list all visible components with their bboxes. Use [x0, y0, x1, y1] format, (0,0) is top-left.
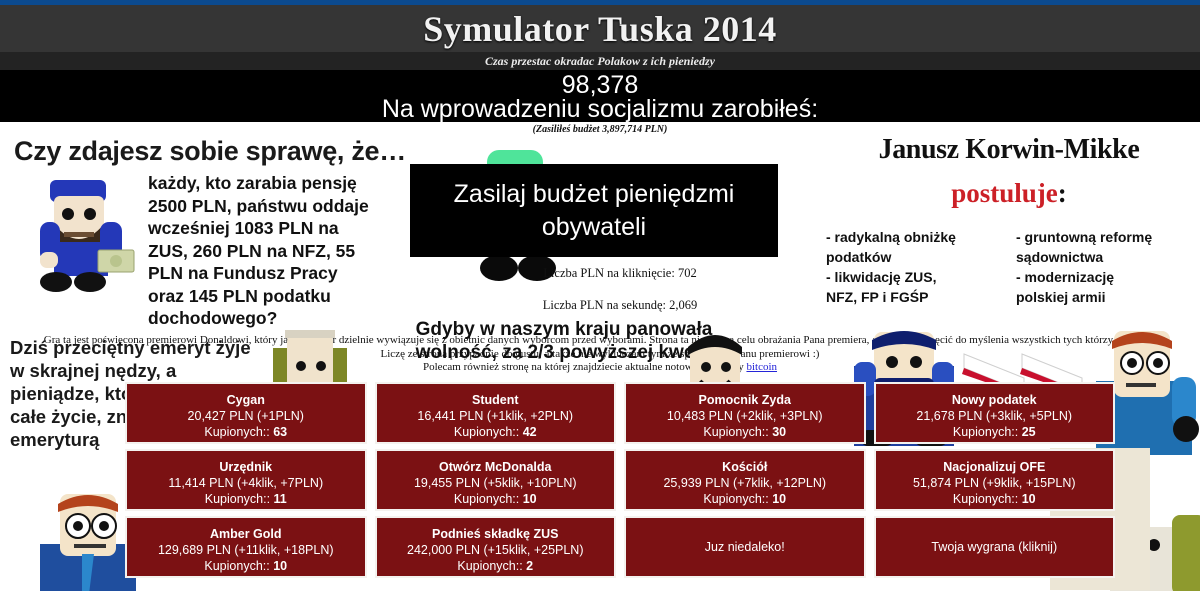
upgrade-owned-count: 63 [273, 425, 287, 439]
upgrade-owned-label: Kupionych:: [703, 425, 772, 439]
upgrade-tile-owned: Kupionych:: 11 [127, 491, 365, 507]
locked-tile-label: Juz niedaleko! [705, 539, 785, 555]
upgrade-tile-owned: Kupionych:: 63 [127, 424, 365, 440]
upgrade-tile-owned: Kupionych:: 2 [377, 558, 615, 574]
postulates-colon: : [1058, 178, 1067, 208]
upgrade-tile-cost: 129,689 PLN (+11klik, +18PLN) [127, 542, 365, 558]
upgrade-tile-owned: Kupionych:: 10 [127, 558, 365, 574]
page-root: Dziś przeciętny emeryt żyje w skrajnej n… [0, 0, 1200, 591]
upgrade-owned-label: Kupionych:: [703, 492, 772, 506]
upgrade-tile-cost: 51,874 PLN (+9klik, +15PLN) [876, 475, 1114, 491]
upgrade-tile-cost: 19,455 PLN (+5klik, +10PLN) [377, 475, 615, 491]
postulate-item: polskiej armii [1016, 288, 1198, 307]
upgrade-owned-count: 10 [273, 559, 287, 573]
locked-tile[interactable]: Twoja wygrana (kliknij) [874, 516, 1116, 578]
postulates-columns: - radykalną obniżkę podatków - likwidacj… [826, 228, 1198, 308]
postulates-column-right: - gruntowną reformę sądownictwa - modern… [1016, 228, 1198, 308]
upgrade-owned-count: 30 [772, 425, 786, 439]
upgrade-owned-label: Kupionych:: [205, 492, 274, 506]
upgrade-owned-label: Kupionych:: [204, 559, 273, 573]
locked-tile-label: Twoja wygrana (kliknij) [931, 539, 1057, 555]
upgrade-tile-cost: 20,427 PLN (+1PLN) [127, 408, 365, 424]
money-counter-label: Na wprowadzeniu socjalizmu zarobiłeś: [0, 96, 1200, 122]
left-panel-body: każdy, kto zarabia pensję 2500 PLN, pańs… [148, 172, 378, 330]
upgrade-owned-count: 2 [526, 559, 533, 573]
upgrade-tile-owned: Kupionych:: 10 [626, 491, 864, 507]
upgrade-tile-name: Nacjonalizuj OFE [876, 459, 1114, 475]
upgrade-tile-cost: 21,678 PLN (+3klik, +5PLN) [876, 408, 1114, 424]
upgrade-tile-name: Pomocnik Zyda [626, 392, 864, 408]
upgrade-owned-count: 10 [1022, 492, 1036, 506]
pln-per-click: Liczba PLN na kliknięcie: 702 [440, 266, 800, 281]
upgrade-tile[interactable]: Urzędnik11,414 PLN (+4klik, +7PLN)Kupion… [125, 449, 367, 511]
left-panel-heading: Czy zdajesz sobie sprawę, że… [14, 136, 406, 167]
upgrade-tile-name: Nowy podatek [876, 392, 1114, 408]
postulate-item: - modernizację [1016, 268, 1198, 287]
disclaimer-line-1: Gra ta jest poświęcona premierowi Donald… [0, 334, 1200, 346]
upgrade-owned-label: Kupionych:: [204, 425, 273, 439]
upgrade-tile-owned: Kupionych:: 42 [377, 424, 615, 440]
upgrade-tile-cost: 10,483 PLN (+2klik, +3PLN) [626, 408, 864, 424]
postulate-item: - likwidację ZUS, [826, 268, 1008, 287]
upgrade-owned-count: 25 [1022, 425, 1036, 439]
upgrade-tile[interactable]: Kościół25,939 PLN (+7klik, +12PLN)Kupion… [624, 449, 866, 511]
upgrade-tile[interactable]: Podnieś składkę ZUS242,000 PLN (+15klik,… [375, 516, 617, 578]
upgrade-tile-owned: Kupionych:: 25 [876, 424, 1114, 440]
upgrade-tile-cost: 25,939 PLN (+7klik, +12PLN) [626, 475, 864, 491]
upgrade-grid: Cygan20,427 PLN (+1PLN)Kupionych:: 63Stu… [125, 382, 1115, 578]
upgrade-owned-count: 11 [274, 492, 287, 506]
page-subtitle: Czas przestac okradac Polakow z ich pien… [0, 52, 1200, 70]
upgrade-tile-name: Urzędnik [127, 459, 365, 475]
upgrade-tile-name: Otwórz McDonalda [377, 459, 615, 475]
locked-tile[interactable]: Juz niedaleko! [624, 516, 866, 578]
upgrade-tile-name: Kościół [626, 459, 864, 475]
upgrade-owned-count: 10 [523, 492, 537, 506]
upgrade-tile[interactable]: Nacjonalizuj OFE51,874 PLN (+9klik, +15P… [874, 449, 1116, 511]
postulate-item: NFZ, FP i FGŚP [826, 288, 1008, 307]
upgrade-tile[interactable]: Amber Gold129,689 PLN (+11klik, +18PLN)K… [125, 516, 367, 578]
upgrade-tile[interactable]: Student16,441 PLN (+1klik, +2PLN)Kupiony… [375, 382, 617, 444]
upgrade-owned-count: 10 [772, 492, 786, 506]
upgrade-owned-label: Kupionych:: [454, 492, 523, 506]
upgrade-tile-cost: 16,441 PLN (+1klik, +2PLN) [377, 408, 615, 424]
postulate-item: podatków [826, 248, 1008, 267]
page-title: Symulator Tuska 2014 [0, 5, 1200, 52]
upgrade-owned-label: Kupionych:: [953, 492, 1022, 506]
upgrade-owned-label: Kupionych:: [953, 425, 1022, 439]
upgrade-tile-name: Podnieś składkę ZUS [377, 526, 615, 542]
postulates-word: postuluje [951, 178, 1058, 208]
upgrade-tile[interactable]: Cygan20,427 PLN (+1PLN)Kupionych:: 63 [125, 382, 367, 444]
pln-per-second: Liczba PLN na sekundę: 2,069 [440, 298, 800, 313]
postulate-item: - gruntowną reformę [1016, 228, 1198, 247]
postulates-heading: postuluje: [824, 178, 1194, 209]
worker-illustration [28, 172, 138, 292]
upgrade-tile-owned: Kupionych:: 30 [626, 424, 864, 440]
upgrade-tile-cost: 11,414 PLN (+4klik, +7PLN) [127, 475, 365, 491]
upgrade-owned-label: Kupionych:: [454, 425, 523, 439]
postulate-item: - radykalną obniżkę [826, 228, 1008, 247]
upgrade-owned-label: Kupionych:: [457, 559, 526, 573]
upgrade-tile-name: Student [377, 392, 615, 408]
upgrade-tile-owned: Kupionych:: 10 [377, 491, 615, 507]
politician-name: Janusz Korwin-Mikke [824, 134, 1194, 166]
feed-budget-button[interactable]: Zasilaj budżet pieniędzmi obywateli [410, 164, 778, 257]
budget-note: (Zasiliłeś budżet 3,897,714 PLN) [0, 124, 1200, 135]
upgrade-tile-owned: Kupionych:: 10 [876, 491, 1114, 507]
upgrade-tile[interactable]: Otwórz McDonalda19,455 PLN (+5klik, +10P… [375, 449, 617, 511]
upgrade-tile-cost: 242,000 PLN (+15klik, +25PLN) [377, 542, 615, 558]
postulates-column-left: - radykalną obniżkę podatków - likwidacj… [826, 228, 1008, 308]
postulate-item: sądownictwa [1016, 248, 1198, 267]
upgrade-owned-count: 42 [523, 425, 537, 439]
upgrade-tile[interactable]: Nowy podatek21,678 PLN (+3klik, +5PLN)Ku… [874, 382, 1116, 444]
upgrade-tile-name: Amber Gold [127, 526, 365, 542]
upgrade-tile[interactable]: Pomocnik Zyda10,483 PLN (+2klik, +3PLN)K… [624, 382, 866, 444]
upgrade-tile-name: Cygan [127, 392, 365, 408]
